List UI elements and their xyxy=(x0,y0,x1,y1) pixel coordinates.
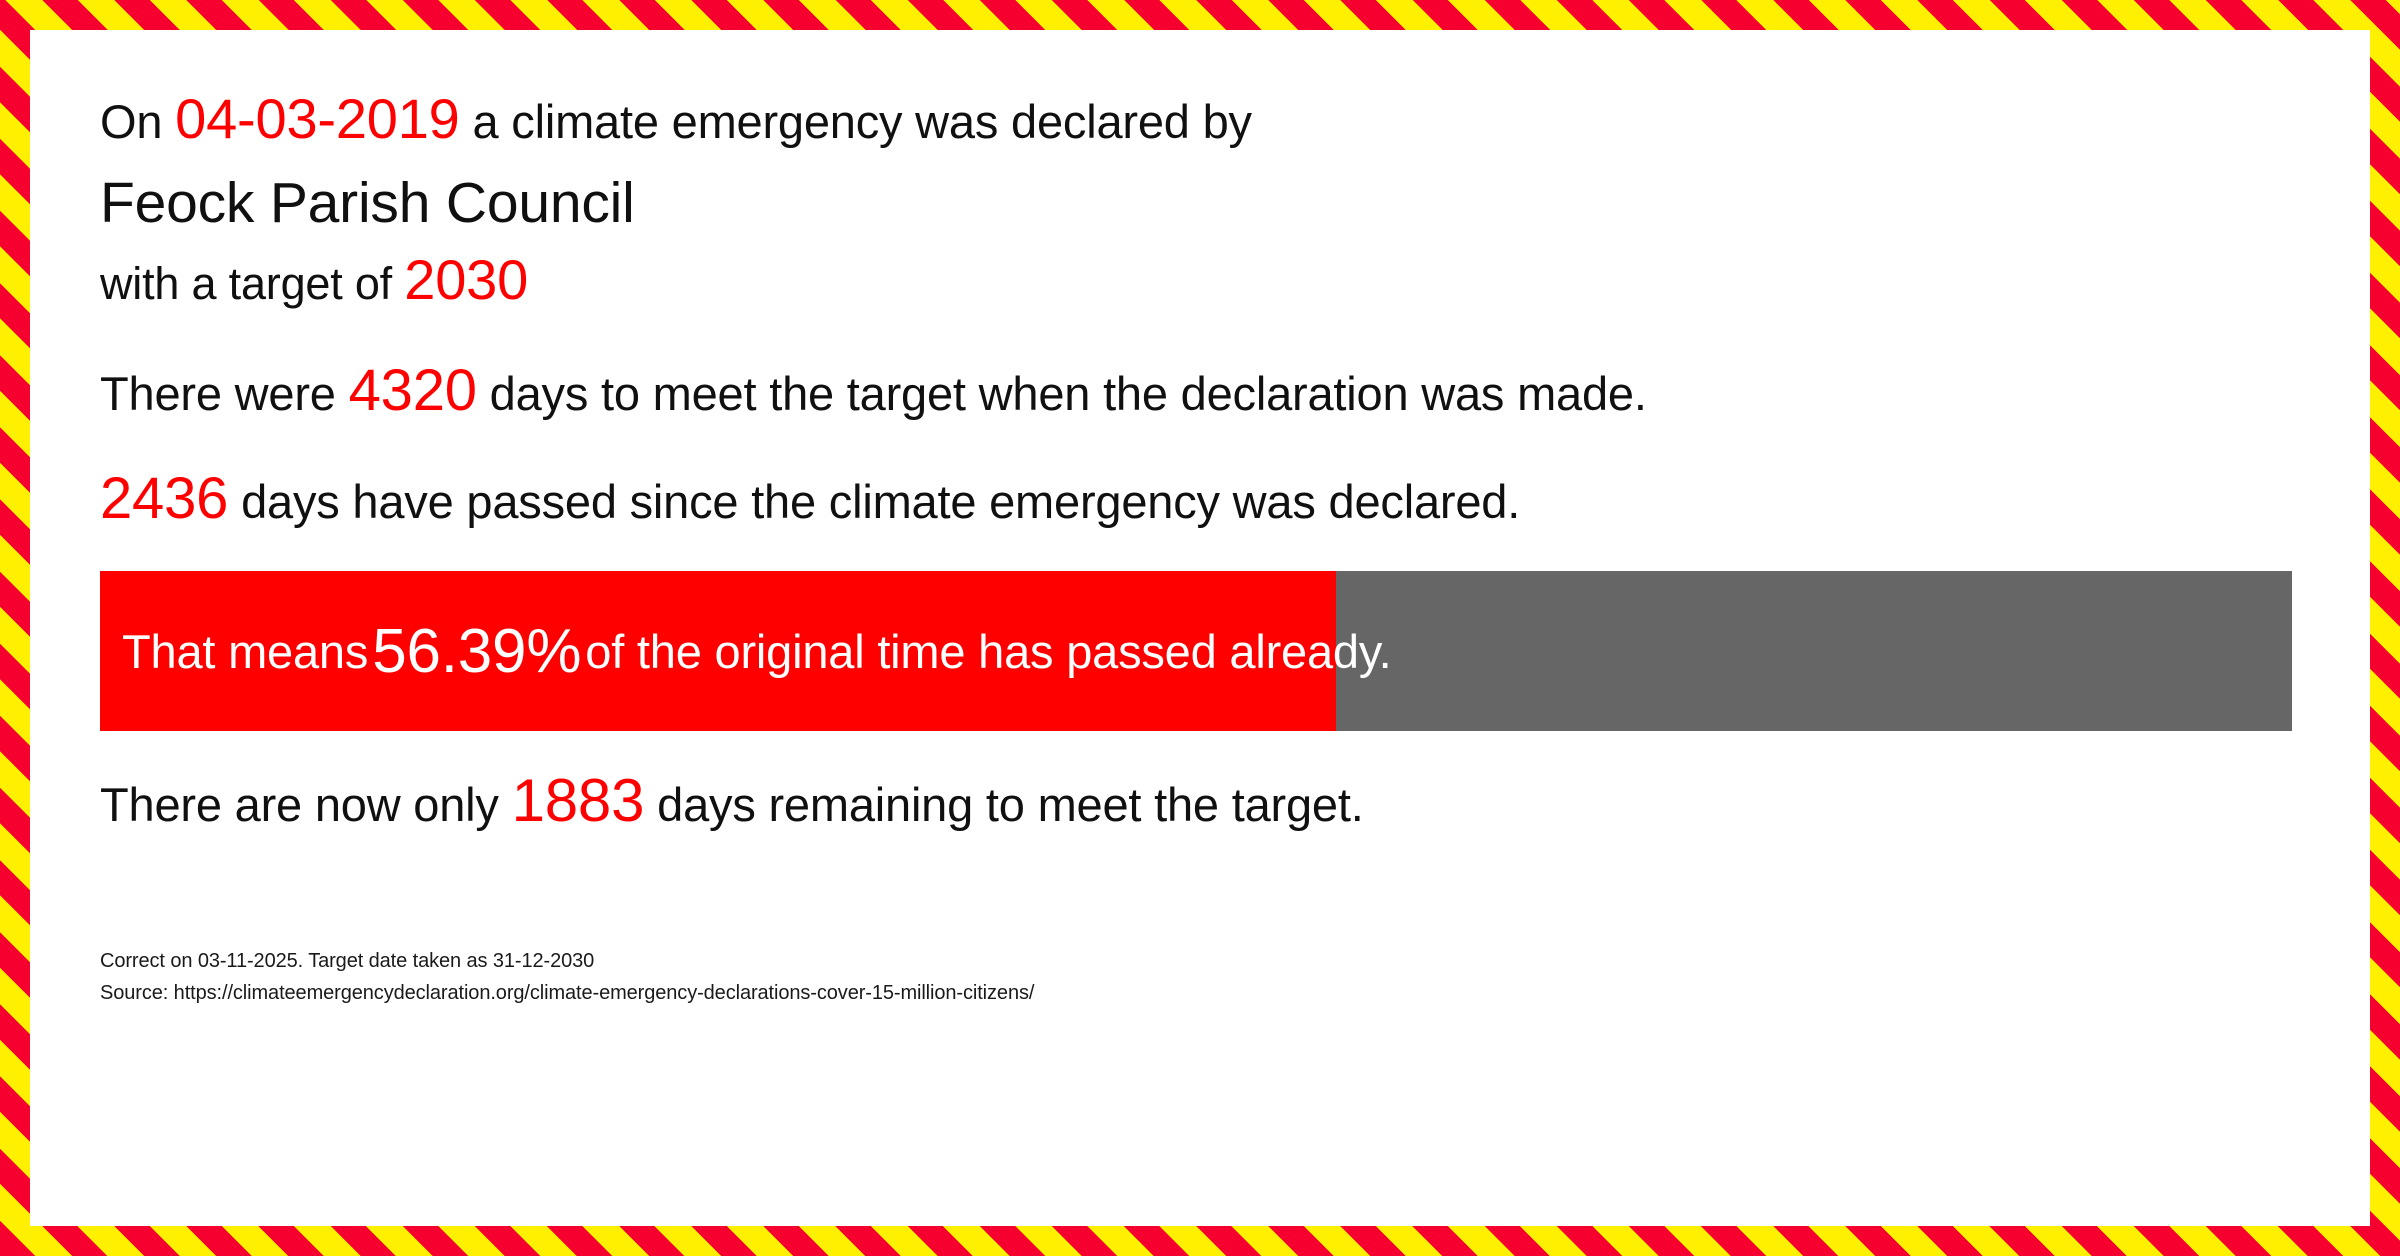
declaration-date: 04-03-2019 xyxy=(175,87,459,150)
elapsed-suffix: days have passed since the climate emerg… xyxy=(241,475,1520,528)
poster-card: On 04-03-2019 a climate emergency was de… xyxy=(30,30,2370,1226)
available-prefix: There were xyxy=(100,367,336,420)
target-prefix: with a target of xyxy=(100,258,392,309)
declaration-prefix: On xyxy=(100,95,162,148)
declaration-headline: On 04-03-2019 a climate emergency was de… xyxy=(100,68,2330,155)
target-line: with a target of 2030 xyxy=(100,245,2330,319)
elapsed-days-line: 2436 days have passed since the climate … xyxy=(100,424,2330,532)
available-suffix: days to meet the target when the declara… xyxy=(490,367,1647,420)
climate-emergency-poster: On 04-03-2019 a climate emergency was de… xyxy=(0,0,2400,1256)
progress-prefix: That means xyxy=(122,624,368,679)
elapsed-days-value: 2436 xyxy=(100,466,228,531)
time-elapsed-progress-bar: That means 56.39% of the original time h… xyxy=(100,571,2292,731)
progress-percent: 56.39% xyxy=(368,616,585,687)
footer-source: Source: https://climateemergencydeclarat… xyxy=(100,977,2330,1009)
available-days-value: 4320 xyxy=(349,358,477,423)
remaining-days-value: 1883 xyxy=(512,767,645,834)
target-year: 2030 xyxy=(404,248,528,311)
remaining-prefix: There are now only xyxy=(100,778,499,831)
declaration-suffix: a climate emergency was declared by xyxy=(473,95,1252,148)
progress-bar-label: That means 56.39% of the original time h… xyxy=(122,571,1392,731)
declaring-authority: Feock Parish Council xyxy=(100,155,2330,245)
footer-correct-on: Correct on 03-11-2025. Target date taken… xyxy=(100,945,2330,977)
progress-suffix: of the original time has passed already. xyxy=(585,624,1391,679)
remaining-days-line: There are now only 1883 days remaining t… xyxy=(100,731,2330,835)
remaining-suffix: days remaining to meet the target. xyxy=(657,778,1363,831)
poster-footer: Correct on 03-11-2025. Target date taken… xyxy=(100,945,2330,1009)
poster-content: On 04-03-2019 a climate emergency was de… xyxy=(100,68,2330,1226)
available-days-line: There were 4320 days to meet the target … xyxy=(100,319,2330,424)
